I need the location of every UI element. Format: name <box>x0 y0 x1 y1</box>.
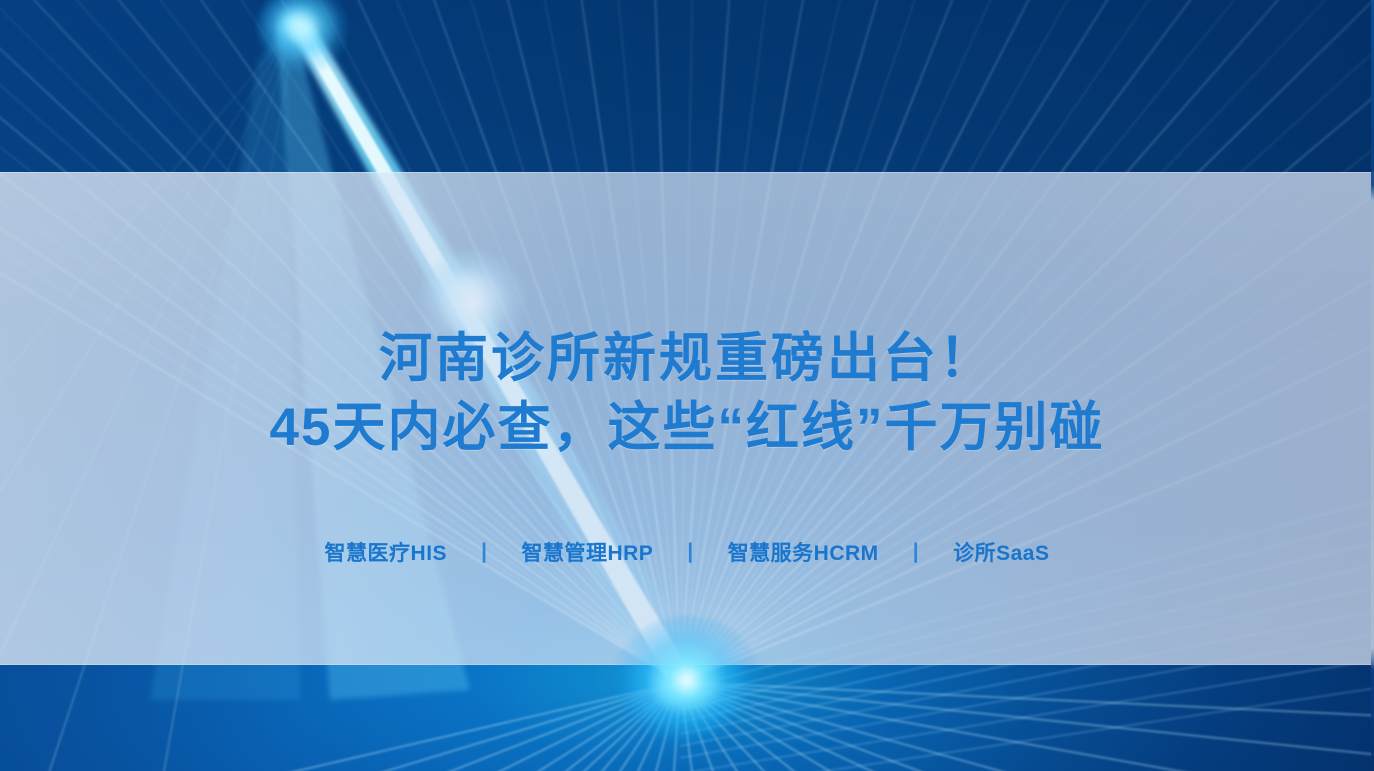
headline-line-1: 河南诊所新规重磅出台！ <box>270 327 1105 391</box>
headline: 河南诊所新规重磅出台！ 45天内必查，这些“红线”千万别碰 <box>270 327 1105 459</box>
banner-slide: 河南诊所新规重磅出台！ 45天内必查，这些“红线”千万别碰 智慧医疗HIS | … <box>0 0 1374 771</box>
tagline-item-saas: 诊所SaaS <box>953 537 1049 567</box>
headline-line-2: 45天内必查，这些“红线”千万别碰 <box>270 396 1105 460</box>
tagline: 智慧医疗HIS | 智慧管理HRP | 智慧服务HCRM | 诊所SaaS <box>325 537 1050 567</box>
peak-glow-icon <box>258 0 348 74</box>
tagline-item-hcrm: 智慧服务HCRM <box>728 537 879 567</box>
banner-content: 河南诊所新规重磅出台！ 45天内必查，这些“红线”千万别碰 智慧医疗HIS | … <box>0 172 1374 665</box>
tagline-item-his: 智慧医疗HIS <box>325 537 448 567</box>
tagline-separator-2: | <box>665 540 715 564</box>
tagline-item-hrp: 智慧管理HRP <box>521 537 653 567</box>
tagline-separator-3: | <box>891 540 941 564</box>
tagline-separator-1: | <box>459 540 509 564</box>
